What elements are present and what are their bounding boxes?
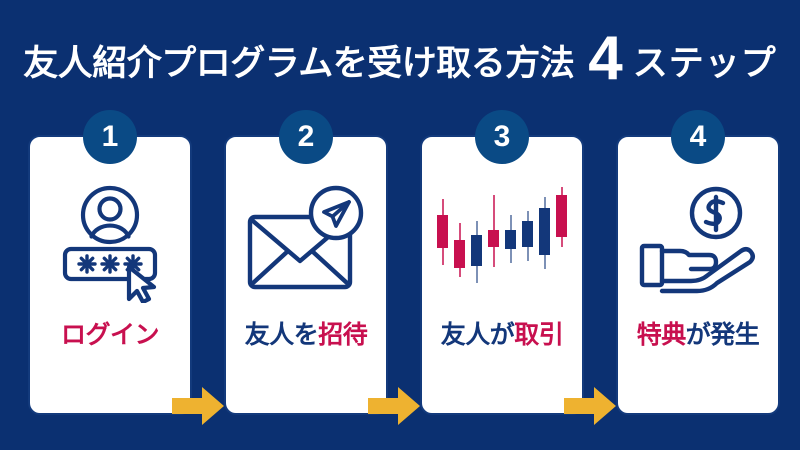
candlestick-8: [556, 185, 567, 297]
step-label-1-part1: ログイン: [61, 321, 159, 349]
candlestick-2: [454, 185, 465, 297]
candlestick-body: [505, 230, 516, 249]
step-label-4: 特典が発生: [618, 322, 778, 350]
step-badge-2: 2: [279, 110, 333, 164]
step-label-2-part1: 友人を: [245, 321, 319, 349]
arrow-step3-to-step4: [564, 387, 616, 425]
arrow-step2-to-step3: [368, 387, 420, 425]
step-label-4-part2: が発生: [686, 321, 760, 349]
title-step-count: 4: [588, 28, 622, 90]
candlestick-body: [454, 240, 465, 268]
candlestick-7: [539, 185, 550, 297]
candlestick-chart-icon: [422, 171, 582, 311]
candlestick-1: [437, 185, 448, 297]
step-label-1: ログイン: [30, 322, 190, 350]
candlestick-4: [488, 185, 499, 297]
steps-container: 1: [0, 135, 800, 415]
page-title: 友人紹介プログラムを受け取る方法 4 ステップ: [0, 24, 800, 88]
candlestick-6: [522, 185, 533, 297]
step-badge-4: 4: [671, 110, 725, 164]
hand-holding-coin-icon: [618, 171, 778, 311]
step-label-2: 友人を招待: [226, 322, 386, 350]
step-badge-3: 3: [475, 110, 529, 164]
title-suffix-text: ステップ: [633, 46, 777, 81]
title-main-text: 友人紹介プログラムを受け取る方法: [23, 46, 574, 81]
candlestick-5: [505, 185, 516, 297]
candlestick-body: [437, 215, 448, 248]
step-card-4[interactable]: 4: [616, 135, 780, 415]
candlestick-3: [471, 185, 482, 297]
infographic-canvas: 友人紹介プログラムを受け取る方法 4 ステップ 1: [0, 0, 800, 450]
envelope-send-invite-icon: [226, 171, 386, 311]
user-password-login-icon: [30, 171, 190, 311]
step-card-1[interactable]: 1: [28, 135, 192, 415]
step-card-3[interactable]: 3 友人が取引: [420, 135, 584, 415]
candlestick-body: [522, 221, 533, 247]
candlestick-body: [471, 235, 482, 266]
step-label-2-part2: 招待: [318, 321, 367, 349]
candlestick-body: [539, 208, 550, 255]
step-card-2[interactable]: 2 友人を招待: [224, 135, 388, 415]
step-badge-1: 1: [83, 110, 137, 164]
candlestick-chart: [434, 185, 570, 297]
step-label-3-part2: 取引: [514, 321, 563, 349]
arrow-step1-to-step2: [172, 387, 224, 425]
step-label-3: 友人が取引: [422, 322, 582, 350]
step-label-4-part1: 特典: [637, 321, 686, 349]
candlestick-body: [488, 230, 499, 247]
step-label-3-part1: 友人が: [441, 321, 515, 349]
candlestick-body: [556, 195, 567, 237]
